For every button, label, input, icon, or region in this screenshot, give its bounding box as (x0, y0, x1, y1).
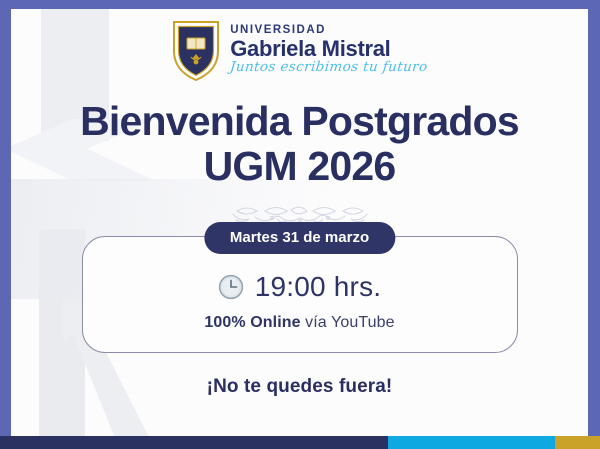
logo-name-text: Gabriela Mistral (230, 38, 428, 60)
university-logo-lockup: UNIVERSIDAD Gabriela Mistral Juntos escr… (11, 9, 588, 85)
poster-canvas: UNIVERSIDAD Gabriela Mistral Juntos escr… (11, 9, 588, 436)
event-mode-strong: 100% Online (204, 314, 300, 331)
event-details-card-wrapper: Martes 31 de marzo 19:00 hrs. 100% Onlin… (82, 236, 518, 353)
event-mode-row: 100% Online vía YouTube (83, 314, 517, 332)
call-to-action-text: ¡No te quedes fuera! (11, 376, 588, 398)
event-mode-light: vía YouTube (301, 314, 395, 331)
date-badge: Martes 31 de marzo (204, 222, 395, 254)
event-time-text: 19:00 hrs. (255, 271, 382, 303)
page-title: Bienvenida Postgrados UGM 2026 (11, 99, 588, 188)
poster-root: UNIVERSIDAD Gabriela Mistral Juntos escr… (0, 0, 600, 449)
bottom-color-bar (0, 436, 600, 449)
bottom-bar-navy-segment (0, 436, 388, 449)
headline-line-2: UGM 2026 (11, 144, 588, 189)
bottom-bar-cyan-segment (388, 436, 555, 449)
logo-wordmark: UNIVERSIDAD Gabriela Mistral Juntos escr… (230, 25, 428, 74)
bottom-bar-gold-segment (555, 436, 600, 449)
clock-icon (218, 274, 244, 300)
logo-tagline-text: Juntos escribimos tu futuro (230, 61, 429, 75)
poster-content: UNIVERSIDAD Gabriela Mistral Juntos escr… (11, 9, 588, 436)
ugm-shield-crest-icon (171, 18, 221, 82)
headline-line-1: Bienvenida Postgrados (80, 98, 519, 144)
event-time-row: 19:00 hrs. (83, 271, 517, 303)
